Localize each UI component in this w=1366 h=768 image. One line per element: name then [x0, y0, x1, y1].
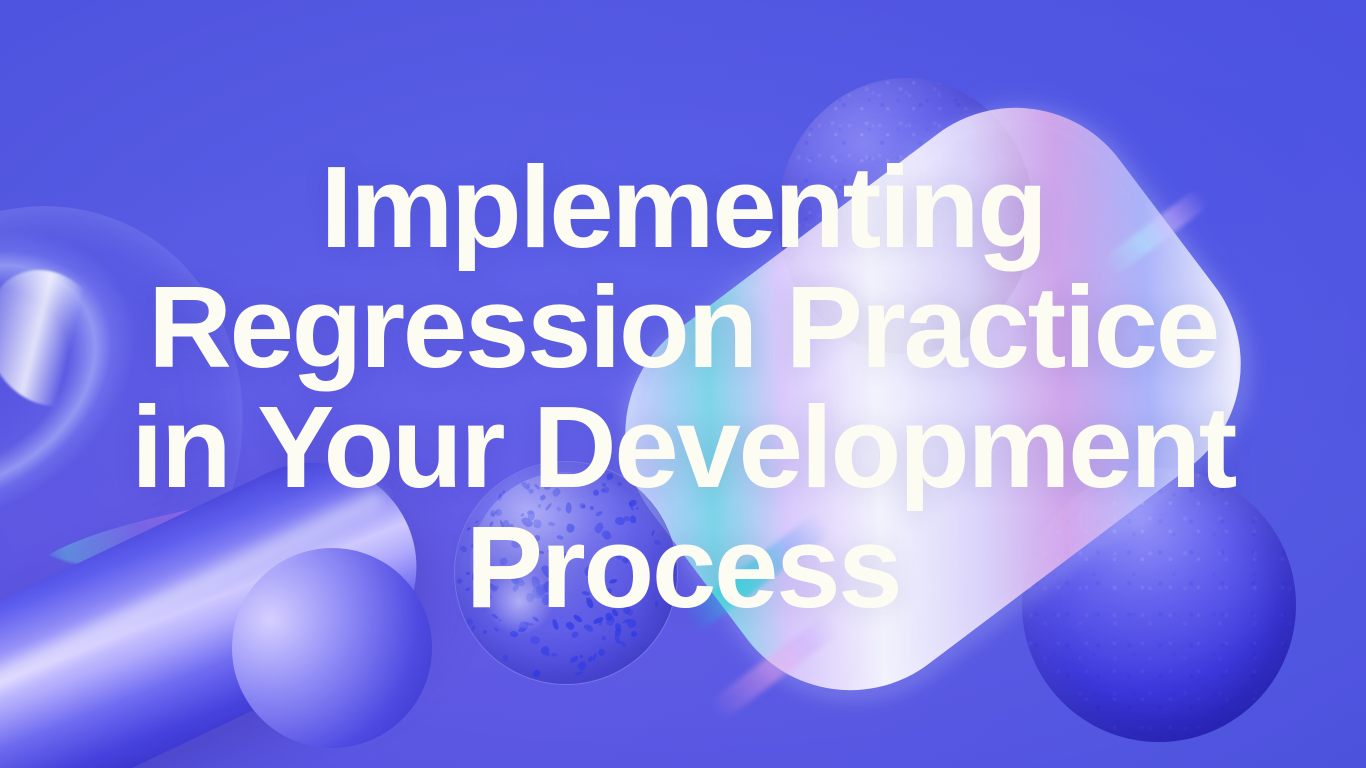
hero-banner: Implementing Regression Practice in Your…: [0, 0, 1366, 768]
headline-line-1: Implementing: [320, 147, 1045, 267]
headline-line-2: Regression Practice: [148, 267, 1218, 387]
headline-line-3: in Your Development: [131, 387, 1235, 507]
headline-line-4: Process: [466, 507, 901, 627]
page-title: Implementing Regression Practice in Your…: [0, 0, 1366, 768]
